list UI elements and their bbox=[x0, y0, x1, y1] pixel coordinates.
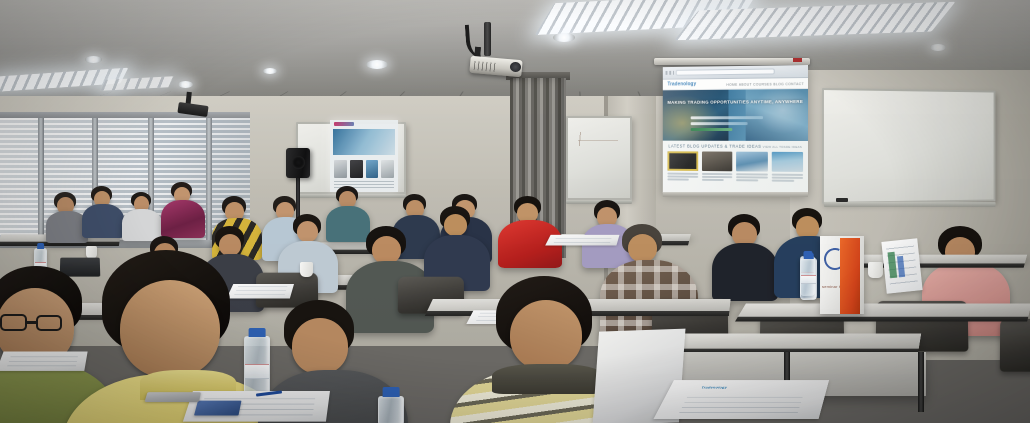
downlight-icon bbox=[85, 56, 102, 63]
window-mullion bbox=[38, 118, 44, 246]
secondary-thumbnail bbox=[334, 160, 347, 178]
whiteboard-right[interactable] bbox=[822, 88, 995, 204]
paper-text-lines bbox=[6, 354, 79, 369]
handout-paper[interactable] bbox=[881, 238, 922, 293]
blog-excerpt bbox=[771, 174, 803, 182]
paper-cup[interactable] bbox=[868, 262, 883, 278]
website-hero-banner: MAKING TRADING OPPORTUNITIES ANYTIME, AN… bbox=[663, 89, 808, 141]
water-bottle[interactable] bbox=[378, 396, 404, 423]
handout-paper[interactable] bbox=[545, 235, 619, 246]
handout-paper[interactable] bbox=[226, 284, 294, 299]
blog-excerpt bbox=[701, 173, 732, 181]
blog-thumbnail bbox=[736, 152, 767, 172]
blog-card bbox=[701, 151, 732, 182]
projection-screen-weight-bar bbox=[663, 192, 808, 197]
table-leg bbox=[918, 352, 924, 412]
chair[interactable] bbox=[1000, 319, 1030, 372]
downlight-icon bbox=[553, 33, 575, 42]
handout-paper[interactable] bbox=[0, 352, 88, 371]
mobile-phone[interactable] bbox=[144, 392, 200, 402]
blog-thumbnail bbox=[701, 151, 732, 171]
blog-excerpt bbox=[736, 173, 767, 181]
whiteboard-center[interactable] bbox=[566, 116, 632, 200]
blog-section-title: LATEST BLOG UPDATES & TRADE IDEAS bbox=[668, 144, 761, 149]
projector-vent bbox=[474, 61, 497, 72]
downlight-icon bbox=[263, 68, 277, 74]
eyeglasses-icon bbox=[0, 314, 66, 332]
screen-pull-tab[interactable] bbox=[793, 58, 802, 62]
secondary-thumbnail-row bbox=[334, 160, 394, 178]
blog-card-list bbox=[667, 151, 803, 183]
blog-excerpt bbox=[667, 173, 697, 181]
water-bottle[interactable] bbox=[800, 258, 817, 300]
paper-cup[interactable] bbox=[300, 262, 313, 277]
blog-side-link: VIEW ALL TRADE IDEAS bbox=[763, 145, 802, 149]
collar bbox=[492, 364, 604, 394]
hero-chart-bars bbox=[691, 116, 763, 132]
handout-logo: Tradenology bbox=[701, 385, 728, 388]
bottle-cap bbox=[249, 328, 266, 337]
secondary-projection-screen bbox=[330, 120, 398, 192]
document-folder[interactable] bbox=[194, 401, 242, 416]
secondary-hero-banner bbox=[333, 129, 395, 155]
window-mullion bbox=[206, 118, 212, 246]
downlight-icon bbox=[178, 81, 193, 88]
secondary-thumbnail bbox=[350, 160, 363, 178]
bottle-cap bbox=[37, 243, 45, 249]
blog-thumbnail bbox=[771, 152, 803, 172]
browser-controls-icon bbox=[666, 71, 674, 75]
website-logo: Tradenology bbox=[667, 81, 696, 87]
handout-paper[interactable]: Tradenology bbox=[653, 380, 829, 419]
hero-image-right bbox=[746, 89, 808, 141]
paper-text-lines bbox=[553, 236, 612, 244]
hero-image-left bbox=[663, 90, 729, 141]
website-nav: HOME ABOUT COURSES BLOG CONTACT bbox=[726, 82, 804, 87]
secondary-thumbnail bbox=[381, 160, 394, 178]
bottle-cap bbox=[383, 387, 400, 397]
hero-headline: MAKING TRADING OPPORTUNITIES ANYTIME, AN… bbox=[663, 99, 808, 105]
paper-text-lines bbox=[679, 393, 804, 415]
downlight-icon bbox=[366, 60, 388, 69]
main-projection-screen: Tradenology HOME ABOUT COURSES BLOG CONT… bbox=[663, 65, 808, 195]
secondary-thumbnail bbox=[366, 160, 379, 178]
paper-text-lines bbox=[234, 286, 288, 297]
bottle-label bbox=[801, 275, 816, 284]
projection-screen-housing bbox=[654, 58, 810, 65]
blog-card bbox=[771, 152, 803, 183]
whiteboard-writing bbox=[578, 132, 618, 146]
blog-card bbox=[736, 152, 767, 183]
downlight-icon bbox=[930, 44, 946, 51]
bottle-cap bbox=[803, 253, 814, 259]
website-blog-section: LATEST BLOG UPDATES & TRADE IDEAS VIEW A… bbox=[663, 141, 808, 195]
seminar-room-photo: Tradenology HOME ABOUT COURSES BLOG CONT… bbox=[0, 0, 1030, 423]
blog-thumbnail bbox=[667, 151, 697, 171]
whiteboard-marker-tray bbox=[824, 202, 996, 207]
bottle-label bbox=[245, 364, 269, 379]
table-row-right-2 bbox=[738, 303, 1030, 316]
browser-url-bar bbox=[676, 68, 775, 75]
blog-card bbox=[667, 151, 697, 181]
secondary-site-logo bbox=[334, 122, 354, 126]
bag-side-panel bbox=[840, 238, 860, 314]
speaker-cone-icon bbox=[292, 156, 305, 169]
whiteboard-marker[interactable] bbox=[836, 198, 848, 202]
